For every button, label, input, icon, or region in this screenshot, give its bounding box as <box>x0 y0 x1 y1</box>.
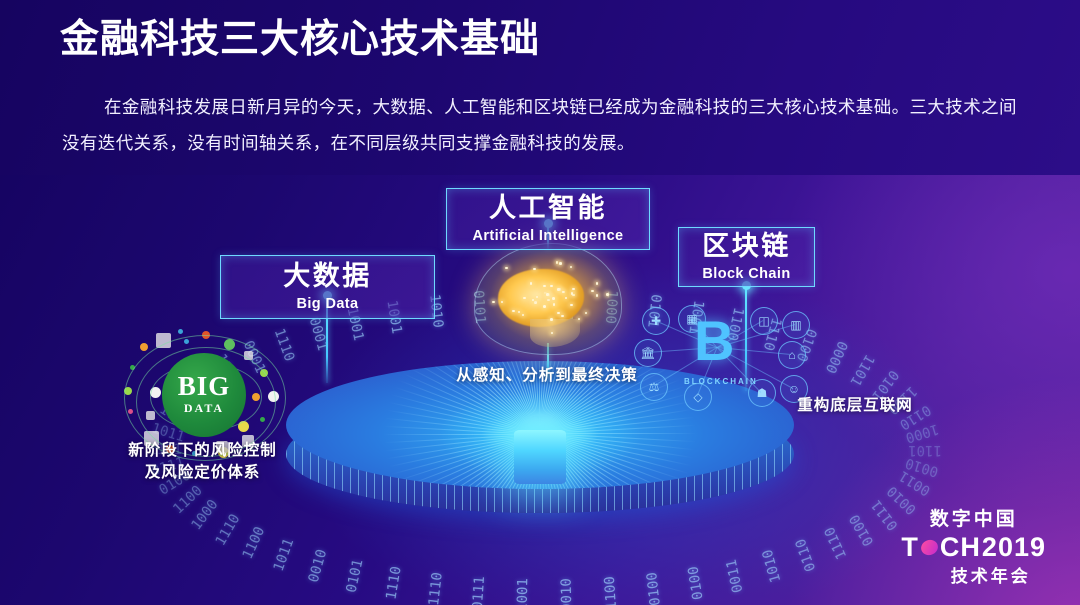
caption-ai-line1: 从感知、分析到最终决策 <box>432 365 662 387</box>
glowing-brain-icon <box>474 243 622 355</box>
label-box-block-chain[interactable]: 区块链 Block Chain <box>678 227 815 287</box>
logo-line-digital-china: 数字中国 <box>901 504 1046 531</box>
center-pedestal <box>514 430 566 484</box>
blockchain-letter-b: B <box>694 313 734 369</box>
label-big-data-en: Big Data <box>296 296 358 312</box>
caption-big-data-line1: 新阶段下的风险控制 <box>95 440 310 462</box>
logo-tech-2019: T CH 2019 <box>901 534 1046 561</box>
label-block-chain-en: Block Chain <box>702 266 790 282</box>
slide-canvas: 金融科技三大核心技术基础 在金融科技发展日新月异的今天，大数据、人工智能和区块链… <box>0 0 1080 605</box>
logo-letters-ch: CH <box>940 534 981 561</box>
label-big-data-cn: 大数据 <box>283 262 372 292</box>
intro-paragraph: 在金融科技发展日新月异的今天，大数据、人工智能和区块链已经成为金融科技的三大核心… <box>62 90 1017 162</box>
logo-year: 2019 <box>982 534 1046 561</box>
logo-line-annual-conference: 技术年会 <box>935 562 1046 587</box>
blockchain-wordmark: BLOCKCHAIN <box>684 377 758 386</box>
caption-artificial-intelligence: 从感知、分析到最终决策 <box>432 365 662 387</box>
caption-big-data-line2: 及风险定价体系 <box>95 462 310 484</box>
caption-block-chain: 重构底层互联网 <box>760 395 950 417</box>
event-logo: 数字中国 T CH 2019 技术年会 <box>901 504 1046 587</box>
label-ai-cn: 人工智能 <box>489 194 607 224</box>
big-data-word-big: BIG <box>178 374 231 400</box>
header-band: 金融科技三大核心技术基础 在金融科技发展日新月异的今天，大数据、人工智能和区块链… <box>0 0 1080 175</box>
label-box-big-data[interactable]: 大数据 Big Data <box>220 255 435 319</box>
label-box-artificial-intelligence[interactable]: 人工智能 Artificial Intelligence <box>446 188 650 250</box>
caption-block-chain-line1: 重构底层互联网 <box>760 395 950 417</box>
logo-ellipse-icon <box>919 538 940 558</box>
big-data-word-data: DATA <box>184 401 224 416</box>
label-block-chain-cn: 区块链 <box>702 232 791 262</box>
big-data-circle: BIG DATA <box>162 353 246 437</box>
logo-letter-t: T <box>901 534 919 561</box>
caption-big-data: 新阶段下的风险控制 及风险定价体系 <box>95 440 310 485</box>
page-title: 金融科技三大核心技术基础 <box>60 16 540 64</box>
label-ai-en: Artificial Intelligence <box>472 228 623 244</box>
